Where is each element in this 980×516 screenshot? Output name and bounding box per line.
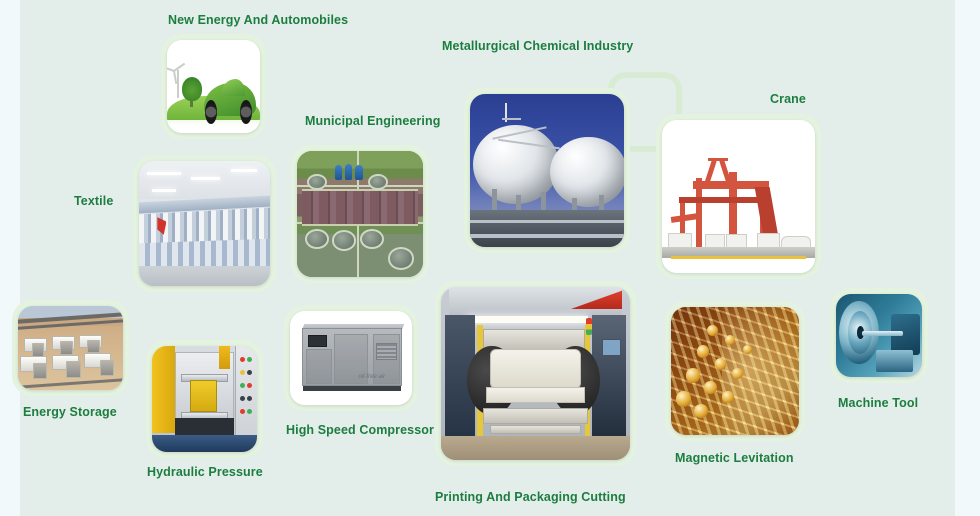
card-municipal-engineering[interactable] (291, 145, 429, 283)
card-textile[interactable] (133, 155, 276, 292)
label-magnetic-levitation: Magnetic Levitation (675, 452, 794, 465)
card-magnetic-levitation[interactable] (665, 301, 805, 441)
image-new-energy-and-automobiles (167, 40, 260, 133)
image-crane (662, 120, 815, 273)
card-new-energy-and-automobiles[interactable] (161, 34, 266, 139)
card-hydraulic-pressure[interactable] (146, 340, 263, 458)
label-crane: Crane (770, 93, 806, 106)
thumb-high-speed-compressor: oil-free air (290, 311, 412, 405)
thumb-hydraulic-pressure (152, 346, 257, 452)
label-high-speed-compressor: High Speed Compressor (286, 424, 434, 437)
thumb-machine-tool (836, 294, 922, 377)
card-metallurgical-chemical-industry[interactable] (464, 88, 630, 253)
right-edge-band (955, 0, 980, 516)
label-energy-storage: Energy Storage (23, 406, 117, 419)
image-magnetic-levitation (671, 307, 799, 435)
thumb-textile (139, 161, 270, 286)
image-municipal-engineering (297, 151, 423, 277)
card-high-speed-compressor[interactable]: oil-free air (284, 305, 418, 411)
left-edge-band (0, 0, 20, 516)
image-printing-and-packaging-cutting (441, 287, 630, 460)
label-textile: Textile (74, 195, 113, 208)
card-crane[interactable] (656, 114, 821, 279)
image-metallurgical-chemical-industry (470, 94, 624, 247)
label-new-energy-and-automobiles: New Energy And Automobiles (168, 14, 348, 27)
industry-application-board: New Energy And Automobiles Municipal E (0, 0, 980, 516)
image-hydraulic-pressure (152, 346, 257, 452)
thumb-magnetic-levitation (671, 307, 799, 435)
image-machine-tool (836, 294, 922, 377)
label-municipal-engineering: Municipal Engineering (305, 115, 440, 128)
thumb-crane (662, 120, 815, 273)
thumb-energy-storage (18, 306, 123, 390)
card-machine-tool[interactable] (830, 288, 928, 383)
label-metallurgical-chemical-industry: Metallurgical Chemical Industry (442, 40, 633, 53)
thumb-printing-and-packaging-cutting (441, 287, 630, 460)
image-textile (139, 161, 270, 286)
label-printing-and-packaging-cutting: Printing And Packaging Cutting (435, 491, 626, 504)
image-energy-storage (18, 306, 123, 390)
card-printing-and-packaging-cutting[interactable] (435, 281, 636, 466)
label-hydraulic-pressure: Hydraulic Pressure (147, 466, 263, 479)
label-machine-tool: Machine Tool (838, 397, 918, 410)
card-energy-storage[interactable] (12, 300, 129, 396)
thumb-municipal-engineering (297, 151, 423, 277)
thumb-new-energy-and-automobiles (167, 40, 260, 133)
image-high-speed-compressor: oil-free air (290, 311, 412, 405)
thumb-metallurgical-chemical-industry (470, 94, 624, 247)
